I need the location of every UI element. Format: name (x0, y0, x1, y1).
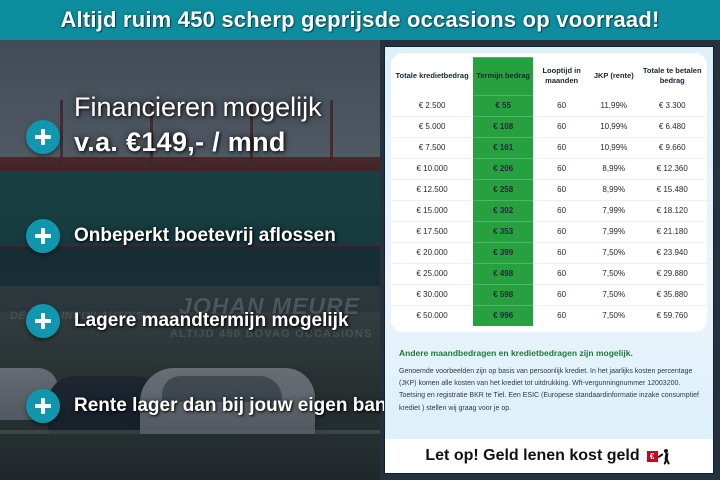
advertisement-banner: JOHAN MEURE DEALER INRUILAUTO'S ALTIJD 4… (0, 0, 720, 480)
column-header-krediet: Totale kredietbedrag (391, 58, 473, 96)
cell-totaal: € 15.480 (637, 179, 707, 200)
money-walking-warning-icon: € (647, 449, 673, 464)
cell-krediet: € 7.500 (391, 137, 473, 158)
cell-jkp: 10,99% (590, 137, 637, 158)
column-header-looptijd: Looptijd in maanden (533, 58, 590, 96)
feature-hero-line1: Financieren mogelijk (74, 92, 322, 123)
cell-krediet: € 17.500 (391, 221, 473, 242)
warning-text: Let op! Geld lenen kost geld (425, 447, 639, 465)
plus-circle-icon (26, 389, 60, 423)
feature-item-label: Onbeperkt boetevrij aflossen (74, 224, 336, 248)
cell-termijn: € 55 (473, 95, 533, 116)
column-header-termijn: Termijn bedrag (473, 58, 533, 96)
cell-looptijd: 60 (533, 158, 590, 179)
table-row: € 20.000€ 399607,50%€ 23.940 (391, 242, 707, 263)
header-banner-text: Altijd ruim 450 scherp geprijsde occasio… (60, 7, 659, 33)
feature-item-label: Rente lager dan bij jouw eigen bank (74, 394, 397, 418)
cell-looptijd: 60 (533, 305, 590, 326)
cell-totaal: € 59.760 (637, 305, 707, 326)
cell-krediet: € 10.000 (391, 158, 473, 179)
cell-totaal: € 29.880 (637, 263, 707, 284)
cell-jkp: 7,99% (590, 200, 637, 221)
cell-krediet: € 12.500 (391, 179, 473, 200)
cell-looptijd: 60 (533, 95, 590, 116)
financing-info-panel: Totale kredietbedrag Termijn bedrag Loop… (384, 46, 714, 474)
disclaimer-body: Genoemde voorbeelden zijn op basis van p… (399, 366, 699, 415)
euro-symbol-box: € (647, 451, 658, 462)
table-row: € 5.000€ 1086010,99%€ 6.480 (391, 116, 707, 137)
cell-totaal: € 21.180 (637, 221, 707, 242)
cell-termijn: € 399 (473, 242, 533, 263)
feature-hero-line2: v.a. €149,- / mnd (74, 127, 322, 158)
cell-totaal: € 35.880 (637, 284, 707, 305)
cell-jkp: 11,99% (590, 95, 637, 116)
cell-krediet: € 2.500 (391, 95, 473, 116)
feature-item-maandtermijn: Lagere maandtermijn mogelijk (26, 304, 349, 338)
table-row: € 7.500€ 1616010,99%€ 9.660 (391, 137, 707, 158)
cell-totaal: € 12.360 (637, 158, 707, 179)
cell-termijn: € 996 (473, 305, 533, 326)
cell-looptijd: 60 (533, 137, 590, 158)
rates-table-head: Totale kredietbedrag Termijn bedrag Loop… (391, 58, 707, 96)
cell-termijn: € 161 (473, 137, 533, 158)
plus-circle-icon (26, 304, 60, 338)
cell-krediet: € 30.000 (391, 284, 473, 305)
cell-looptijd: 60 (533, 200, 590, 221)
cell-termijn: € 302 (473, 200, 533, 221)
cell-jkp: 10,99% (590, 116, 637, 137)
cell-totaal: € 9.660 (637, 137, 707, 158)
cell-jkp: 7,50% (590, 284, 637, 305)
cell-jkp: 8,99% (590, 158, 637, 179)
cell-looptijd: 60 (533, 242, 590, 263)
cell-jkp: 7,50% (590, 263, 637, 284)
plus-circle-icon (26, 219, 60, 253)
table-row: € 15.000€ 302607,99%€ 18.120 (391, 200, 707, 221)
cell-krediet: € 5.000 (391, 116, 473, 137)
feature-item-label: Lagere maandtermijn mogelijk (74, 309, 349, 333)
cell-jkp: 7,50% (590, 242, 637, 263)
walking-figure-icon (659, 449, 673, 464)
cell-termijn: € 598 (473, 284, 533, 305)
warning-bar: Let op! Geld lenen kost geld € (385, 439, 713, 473)
rates-table: Totale kredietbedrag Termijn bedrag Loop… (391, 57, 707, 326)
cell-totaal: € 23.940 (637, 242, 707, 263)
column-header-jkp: JKP (rente) (590, 58, 637, 96)
rates-header-row: Totale kredietbedrag Termijn bedrag Loop… (391, 58, 707, 96)
disclaimer-section: Andere maandbedragen en kredietbedragen … (385, 338, 713, 415)
cell-looptijd: 60 (533, 263, 590, 284)
table-row: € 25.000€ 498607,50%€ 29.880 (391, 263, 707, 284)
cell-krediet: € 25.000 (391, 263, 473, 284)
feature-item-rente: Rente lager dan bij jouw eigen bank (26, 389, 397, 423)
table-row: € 50.000€ 996607,50%€ 59.760 (391, 305, 707, 326)
cell-looptijd: 60 (533, 284, 590, 305)
cell-totaal: € 6.480 (637, 116, 707, 137)
table-row: € 10.000€ 206608,99%€ 12.360 (391, 158, 707, 179)
column-header-totaal: Totale te betalen bedrag (637, 58, 707, 96)
cell-jkp: 7,99% (590, 221, 637, 242)
cell-jkp: 8,99% (590, 179, 637, 200)
cell-termijn: € 258 (473, 179, 533, 200)
cell-totaal: € 18.120 (637, 200, 707, 221)
cell-termijn: € 353 (473, 221, 533, 242)
table-row: € 30.000€ 598607,50%€ 35.880 (391, 284, 707, 305)
cell-krediet: € 50.000 (391, 305, 473, 326)
cell-krediet: € 20.000 (391, 242, 473, 263)
cell-looptijd: 60 (533, 179, 590, 200)
plus-circle-icon (26, 120, 60, 154)
table-row: € 2.500€ 556011,99%€ 3.300 (391, 95, 707, 116)
cell-looptijd: 60 (533, 221, 590, 242)
table-row: € 17.500€ 353607,99%€ 21.180 (391, 221, 707, 242)
header-banner: Altijd ruim 450 scherp geprijsde occasio… (0, 0, 720, 40)
cell-termijn: € 498 (473, 263, 533, 284)
feature-hero-text: Financieren mogelijk v.a. €149,- / mnd (74, 92, 322, 158)
disclaimer-title: Andere maandbedragen en kredietbedragen … (399, 348, 699, 359)
rates-table-body: € 2.500€ 556011,99%€ 3.300€ 5.000€ 10860… (391, 95, 707, 326)
rates-table-card: Totale kredietbedrag Termijn bedrag Loop… (391, 53, 707, 332)
table-row: € 12.500€ 258608,99%€ 15.480 (391, 179, 707, 200)
cell-looptijd: 60 (533, 116, 590, 137)
cell-jkp: 7,50% (590, 305, 637, 326)
cell-totaal: € 3.300 (637, 95, 707, 116)
feature-item-aflossen: Onbeperkt boetevrij aflossen (26, 219, 336, 253)
cell-termijn: € 108 (473, 116, 533, 137)
feature-list: Financieren mogelijk v.a. €149,- / mnd O… (0, 40, 382, 480)
feature-item-financiering: Financieren mogelijk v.a. €149,- / mnd (26, 92, 322, 158)
cell-termijn: € 206 (473, 158, 533, 179)
cell-krediet: € 15.000 (391, 200, 473, 221)
